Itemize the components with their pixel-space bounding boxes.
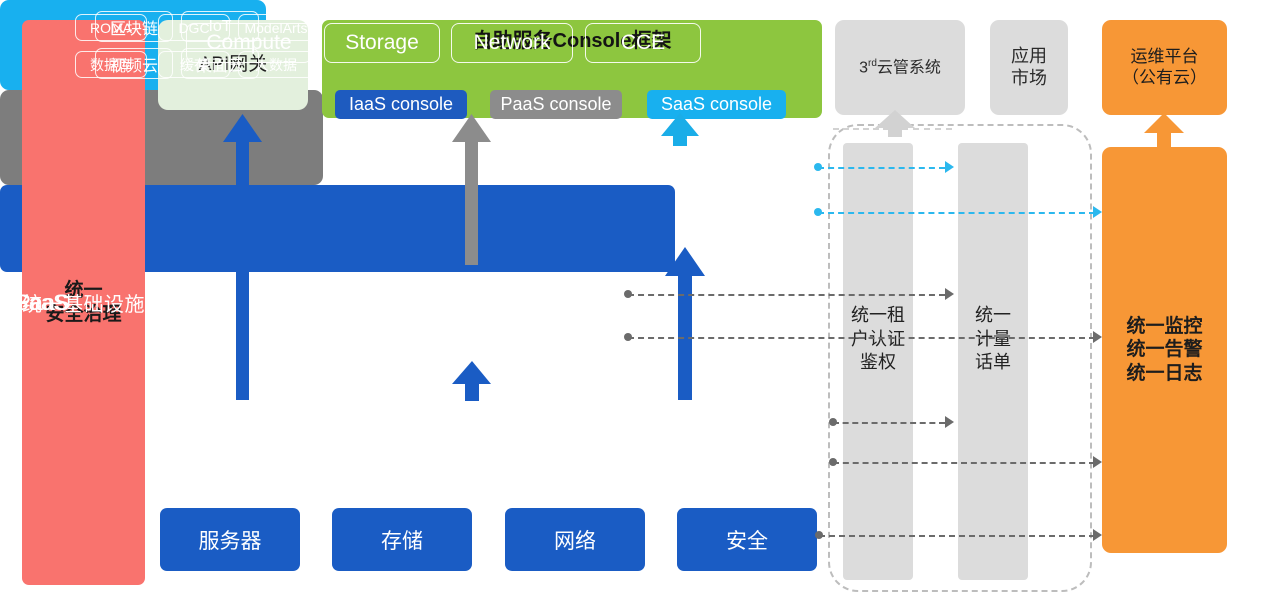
ops-monitoring-label: 统一监控 统一告警 统一日志 <box>1126 315 1202 385</box>
unified-metering-billing-label: 统一 计量 话单 <box>975 304 1011 374</box>
ops-platform-header-label: 运维平台 （公有云） <box>1122 47 1207 88</box>
saas-console-chip[interactable]: SaaS console <box>647 90 786 119</box>
hardware-security-box[interactable]: 安全 <box>677 508 817 571</box>
ops-platform-header-box: 运维平台 （公有云） <box>1102 20 1227 115</box>
iaas-service-storage[interactable]: Storage <box>324 23 440 63</box>
connector-arrowhead <box>1093 529 1102 541</box>
iaas-service-network[interactable]: Network <box>451 23 573 63</box>
connector-iaas-to-auth <box>833 422 945 424</box>
arrow-ops-panel-to-ops-header <box>1144 113 1184 147</box>
connector-saas-to-ops <box>818 212 1095 214</box>
hardware-server-box[interactable]: 服务器 <box>160 508 300 571</box>
iaas-console-label: IaaS console <box>349 94 453 116</box>
saas-console-label: SaaS console <box>661 94 772 116</box>
connector-arrowhead <box>1093 206 1102 218</box>
connector-paas-to-auth <box>628 294 945 296</box>
iaas-service-label: Compute <box>206 31 291 55</box>
iaas-service-label: CCE <box>621 31 665 55</box>
iaas-service-label: Network <box>473 31 550 55</box>
third-party-suffix: 云管系统 <box>877 59 941 76</box>
connector-arrowhead <box>1093 456 1102 468</box>
connector-iaas-to-ops <box>833 462 1095 464</box>
unified-infrastructure-service-bar: 统一基础设施服务 Compute Storage Network CCE <box>0 185 675 272</box>
architecture-diagram: 统一 安全治理 API网关 自助服务Console框架 IaaS console… <box>0 0 1265 605</box>
hardware-label: 存储 <box>381 525 423 555</box>
ops-monitoring-panel: 统一监控 统一告警 统一日志 <box>1102 147 1227 553</box>
paas-console-label: PaaS console <box>500 94 611 116</box>
connector-stub-third-party <box>833 128 889 130</box>
third-party-superscript: rd <box>868 58 877 69</box>
connector-arrowhead <box>945 161 954 173</box>
unified-tenant-auth-label: 统一租 户认证 鉴权 <box>851 304 905 374</box>
hardware-label: 网络 <box>554 525 596 555</box>
arrow-iaas-to-paas <box>452 361 491 401</box>
iaas-service-label: Storage <box>345 31 419 55</box>
iaas-service-compute[interactable]: Compute <box>186 23 312 63</box>
iaas-service-cce[interactable]: CCE <box>585 23 701 63</box>
hardware-network-box[interactable]: 网络 <box>505 508 645 571</box>
connector-stub-third-party-right <box>902 128 952 130</box>
connector-arrowhead <box>945 416 954 428</box>
app-market-box: 应用 市场 <box>990 20 1068 115</box>
hardware-label: 服务器 <box>199 525 262 555</box>
connector-paas-to-ops <box>628 337 1095 339</box>
connector-arrowhead <box>1093 331 1102 343</box>
iaas-console-chip[interactable]: IaaS console <box>335 90 467 119</box>
hardware-label: 安全 <box>726 525 768 555</box>
unified-tenant-auth-column: 统一租 户认证 鉴权 <box>843 143 913 580</box>
connector-hardware-to-ops <box>819 535 1095 537</box>
app-market-label: 应用 市场 <box>1011 46 1047 90</box>
connector-saas-to-auth <box>818 167 945 169</box>
connector-arrowhead <box>945 288 954 300</box>
third-party-cloud-mgmt-label: 3rd云管系统 <box>859 58 941 78</box>
third-party-prefix: 3 <box>859 59 868 76</box>
hardware-storage-box[interactable]: 存储 <box>332 508 472 571</box>
third-party-cloud-mgmt-box: 3rd云管系统 <box>835 20 965 115</box>
unified-metering-billing-column: 统一 计量 话单 <box>958 143 1028 580</box>
paas-console-chip[interactable]: PaaS console <box>490 90 622 119</box>
